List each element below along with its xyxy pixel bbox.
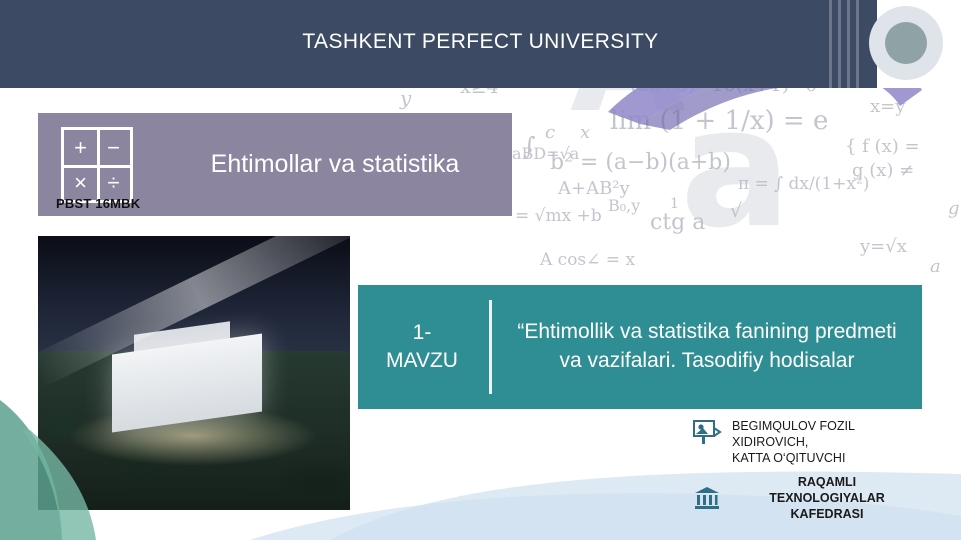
math-item: π = ∫ dx/(1+x²)	[738, 174, 869, 194]
topic-number: 1- MAVZU	[358, 285, 486, 409]
math-item: y=√x	[860, 236, 907, 257]
plus-icon: +	[64, 130, 97, 165]
bank-building-icon	[692, 484, 722, 512]
lecturer-block: BEGIMQULOV FOZIL XIDIROVICH, KATTA O‘QIT…	[692, 418, 942, 522]
math-item: y	[400, 86, 411, 110]
math-item: a	[930, 256, 941, 277]
divide-icon: ÷	[97, 165, 130, 200]
math-item: 1	[670, 196, 679, 212]
department-line3: KAFEDRASI	[732, 506, 922, 522]
slide: y x≥4 (2x+3)−10(x+1)=0 x=y lim (1 + 1/x)…	[0, 0, 961, 540]
department-line2: TEXNOLOGIYALAR	[732, 490, 922, 506]
math-item: A+AB²y	[558, 178, 630, 199]
lecturer-name: BEGIMQULOV FOZIL XIDIROVICH, KATTA O‘QIT…	[732, 418, 855, 466]
lecturer-name-line1: BEGIMQULOV FOZIL	[732, 418, 855, 434]
campus-photo	[38, 236, 350, 510]
svg-text:a: a	[680, 72, 791, 264]
math-item: A cos∠ = x	[540, 250, 635, 270]
department-name: RAQAMLI TEXNOLOGIYALAR KAFEDRASI	[732, 474, 922, 522]
math-item: x	[580, 122, 590, 143]
math-item: g	[948, 198, 960, 219]
math-item: b² = (a−b)(a+b)	[550, 150, 731, 175]
times-icon: ×	[64, 165, 97, 200]
topic-number-line1: 1-	[386, 319, 458, 347]
lecturer-name-line2: XIDIROVICH,	[732, 434, 855, 450]
circle-inner-decoration	[885, 22, 927, 64]
topic-number-line2: MAVZU	[386, 347, 458, 375]
math-item: ∫	[523, 132, 536, 160]
presenter-icon	[692, 418, 722, 446]
math-item: √	[730, 200, 742, 222]
math-item: c	[545, 122, 555, 143]
math-item: = √mx +b	[515, 206, 602, 226]
header-stripes	[829, 0, 869, 88]
header-bar: TASHKENT PERFECT UNIVERSITY	[0, 0, 961, 88]
math-item: aBD=√a	[512, 144, 579, 163]
lecturer-name-line3: KATTA O‘QITUVCHI	[732, 450, 855, 466]
topic-title: “Ehtimollik va statistika fanining predm…	[500, 285, 914, 409]
math-item: { f (x) =	[845, 136, 920, 157]
topic-banner: 1- MAVZU “Ehtimollik va statistika fanin…	[358, 285, 922, 409]
subject-code: PBST 16MBK	[56, 196, 140, 211]
calculator-icon: + − × ÷	[61, 127, 133, 203]
math-item: B₀,y	[608, 196, 640, 215]
page-title: TASHKENT PERFECT UNIVERSITY	[0, 30, 961, 54]
math-item: lim (1 + 1/x) = e	[610, 106, 828, 136]
math-item: x=y	[870, 96, 905, 117]
department-line1: RAQAMLI	[732, 474, 922, 490]
minus-icon: −	[97, 130, 130, 165]
topic-divider	[489, 300, 492, 394]
math-item: ctg a	[650, 210, 705, 235]
math-item: g (x) ≠	[852, 160, 914, 181]
subject-title: Ehtimollar va statistika	[158, 113, 512, 216]
